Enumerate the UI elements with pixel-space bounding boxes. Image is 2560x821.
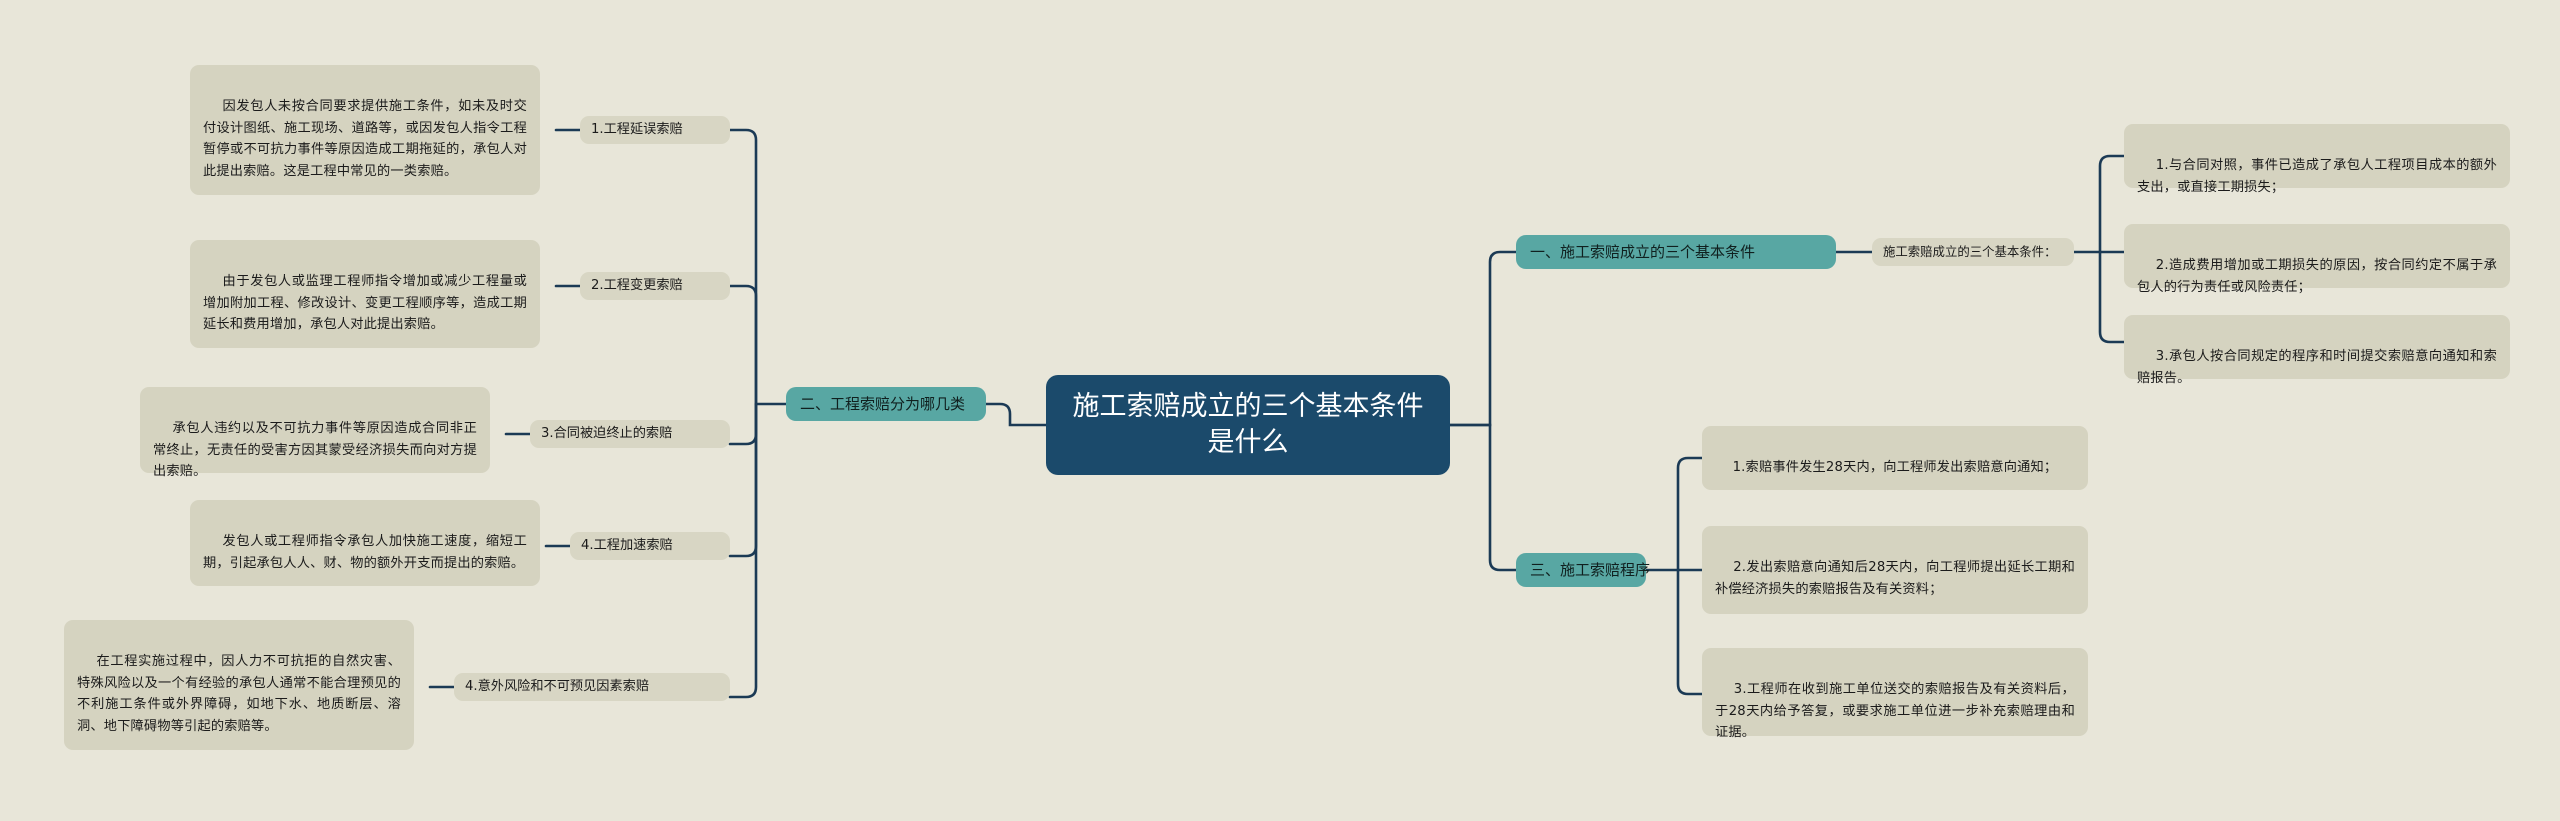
branch-1-item-1[interactable]: 1.与合同对照，事件已造成了承包人工程项目成本的额外支出，或直接工期损失； (2124, 124, 2510, 188)
branch-2-item-4-detail-text: 发包人或工程师指令承包人加快施工速度，缩短工期，引起承包人人、财、物的额外开支而… (203, 534, 527, 570)
branch-1-label: 一、施工索赔成立的三个基本条件 (1530, 240, 1755, 264)
branch-1-item-1-text: 1.与合同对照，事件已造成了承包人工程项目成本的额外支出，或直接工期损失； (2137, 158, 2497, 194)
branch-3-item-1-text: 1.索赔事件发生28天内，向工程师发出索赔意向通知； (1733, 460, 2058, 475)
branch-2-item-3-detail[interactable]: 承包人违约以及不可抗力事件等原因造成合同非正常终止，无责任的受害方因其蒙受经济损… (140, 387, 490, 473)
branch-2-item-4-title-text: 4.工程加速索赔 (581, 535, 673, 556)
branch-2-item-5-title-text: 4.意外风险和不可预见因素索赔 (465, 676, 649, 697)
branch-2-item-5-detail-text: 在工程实施过程中，因人力不可抗拒的自然灾害、特殊风险以及一个有经验的承包人通常不… (77, 654, 401, 733)
branch-2-item-5-title[interactable]: 4.意外风险和不可预见因素索赔 (454, 673, 730, 701)
branch-1-item-2-text: 2.造成费用增加或工期损失的原因，按合同约定不属于承包人的行为责任或风险责任； (2137, 258, 2497, 294)
branch-node-3[interactable]: 三、施工索赔程序 (1516, 553, 1646, 587)
branch-3-item-2-text: 2.发出索赔意向通知后28天内，向工程师提出延长工期和补偿经济损失的索赔报告及有… (1715, 560, 2075, 596)
branch-1-connector-text: 施工索赔成立的三个基本条件： (1883, 242, 2056, 262)
branch-node-1[interactable]: 一、施工索赔成立的三个基本条件 (1516, 235, 1836, 269)
branch-2-item-5-detail[interactable]: 在工程实施过程中，因人力不可抗拒的自然灾害、特殊风险以及一个有经验的承包人通常不… (64, 620, 414, 750)
branch-2-item-1-detail-text: 因发包人未按合同要求提供施工条件，如未及时交付设计图纸、施工现场、道路等，或因发… (203, 99, 527, 178)
root-label: 施工索赔成立的三个基本条件是什么 (1064, 389, 1432, 461)
branch-2-item-2-title[interactable]: 2.工程变更索赔 (580, 272, 730, 300)
branch-2-item-4-title[interactable]: 4.工程加速索赔 (570, 532, 730, 560)
branch-1-connector-label[interactable]: 施工索赔成立的三个基本条件： (1872, 238, 2074, 266)
root-node[interactable]: 施工索赔成立的三个基本条件是什么 (1046, 375, 1450, 475)
branch-3-item-1[interactable]: 1.索赔事件发生28天内，向工程师发出索赔意向通知； (1702, 426, 2088, 490)
branch-2-item-3-detail-text: 承包人违约以及不可抗力事件等原因造成合同非正常终止，无责任的受害方因其蒙受经济损… (153, 421, 477, 479)
branch-3-item-3[interactable]: 3.工程师在收到施工单位送交的索赔报告及有关资料后，于28天内给予答复，或要求施… (1702, 648, 2088, 736)
branch-2-item-1-title-text: 1.工程延误索赔 (591, 119, 683, 140)
branch-2-item-1-title[interactable]: 1.工程延误索赔 (580, 116, 730, 144)
branch-2-label: 二、工程索赔分为哪几类 (800, 392, 965, 416)
mindmap-canvas: 施工索赔成立的三个基本条件是什么 一、施工索赔成立的三个基本条件 施工索赔成立的… (0, 0, 2560, 821)
branch-1-item-3[interactable]: 3.承包人按合同规定的程序和时间提交索赔意向通知和索赔报告。 (2124, 315, 2510, 379)
branch-1-item-2[interactable]: 2.造成费用增加或工期损失的原因，按合同约定不属于承包人的行为责任或风险责任； (2124, 224, 2510, 288)
branch-2-item-1-detail[interactable]: 因发包人未按合同要求提供施工条件，如未及时交付设计图纸、施工现场、道路等，或因发… (190, 65, 540, 195)
branch-2-item-2-detail[interactable]: 由于发包人或监理工程师指令增加或减少工程量或增加附加工程、修改设计、变更工程顺序… (190, 240, 540, 348)
branch-3-label: 三、施工索赔程序 (1530, 558, 1650, 582)
branch-node-2[interactable]: 二、工程索赔分为哪几类 (786, 387, 986, 421)
branch-3-item-2[interactable]: 2.发出索赔意向通知后28天内，向工程师提出延长工期和补偿经济损失的索赔报告及有… (1702, 526, 2088, 614)
branch-2-item-4-detail[interactable]: 发包人或工程师指令承包人加快施工速度，缩短工期，引起承包人人、财、物的额外开支而… (190, 500, 540, 586)
branch-2-item-2-title-text: 2.工程变更索赔 (591, 275, 683, 296)
branch-2-item-3-title[interactable]: 3.合同被迫终止的索赔 (530, 420, 730, 448)
branch-1-item-3-text: 3.承包人按合同规定的程序和时间提交索赔意向通知和索赔报告。 (2137, 349, 2497, 385)
branch-3-item-3-text: 3.工程师在收到施工单位送交的索赔报告及有关资料后，于28天内给予答复，或要求施… (1715, 682, 2075, 740)
branch-2-item-2-detail-text: 由于发包人或监理工程师指令增加或减少工程量或增加附加工程、修改设计、变更工程顺序… (203, 274, 527, 332)
branch-2-item-3-title-text: 3.合同被迫终止的索赔 (541, 423, 672, 444)
